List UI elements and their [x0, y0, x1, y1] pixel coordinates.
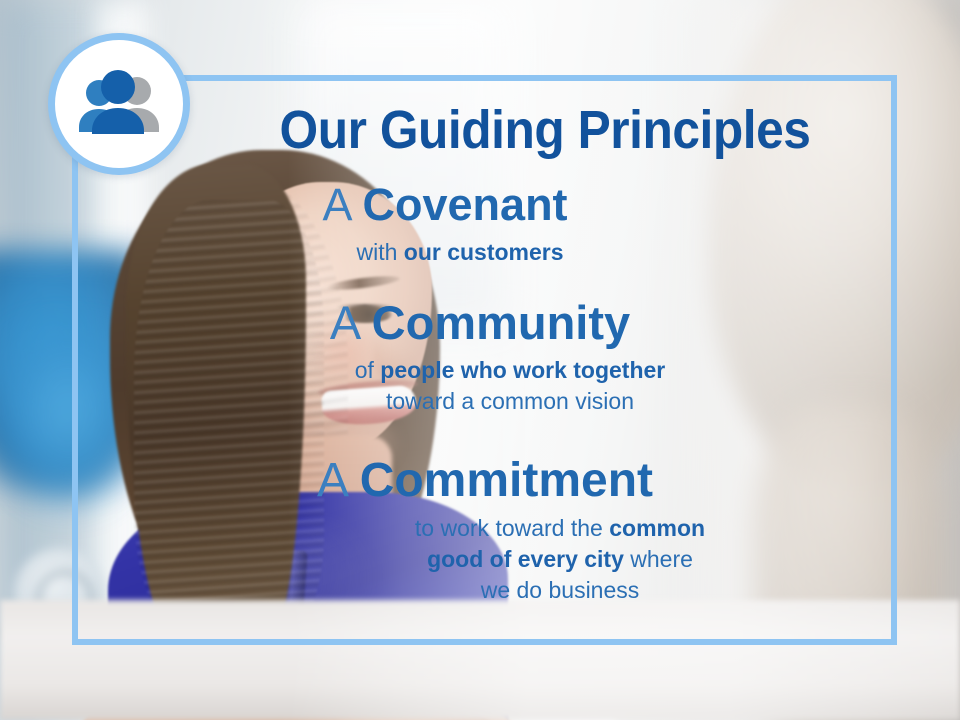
- principle-community-heading: A Community: [100, 295, 860, 351]
- principle-community-word: Community: [372, 296, 631, 349]
- community-sub-bold-1: people who work together: [380, 357, 665, 383]
- text-content: Our Guiding Principles A Covenant with o…: [100, 85, 870, 640]
- principle-covenant: A Covenant with our customers: [100, 177, 790, 268]
- principle-covenant-word: Covenant: [363, 179, 568, 230]
- principle-community-article: A: [330, 296, 359, 349]
- principle-commitment-subtext: to work toward the common good of every …: [100, 513, 870, 606]
- page-title: Our Guiding Principles: [246, 100, 844, 160]
- principle-covenant-heading: A Covenant: [100, 177, 790, 233]
- covenant-sub-regular: with: [356, 239, 403, 265]
- principle-commitment-article: A: [317, 454, 346, 507]
- guiding-principles-poster: FLOW AUTOMOTIVE FLOW: [0, 0, 960, 720]
- principle-covenant-article: A: [322, 179, 350, 230]
- principle-commitment-heading: A Commitment: [100, 453, 870, 509]
- community-sub-regular-2: toward a common vision: [386, 388, 634, 414]
- principle-commitment: A Commitment to work toward the common g…: [100, 453, 870, 606]
- principle-commitment-word: Commitment: [360, 454, 653, 507]
- principle-community-subtext: of people who work together toward a com…: [100, 355, 860, 417]
- covenant-sub-bold: our customers: [404, 239, 564, 265]
- commitment-sub-bold-1: common: [609, 515, 705, 541]
- principle-covenant-subtext: with our customers: [100, 237, 790, 268]
- commitment-sub-regular-1: to work toward the: [415, 515, 609, 541]
- commitment-sub-bold-2: good of every city: [427, 546, 624, 572]
- commitment-sub-regular-2: where: [624, 546, 693, 572]
- community-sub-regular-1: of: [355, 357, 381, 383]
- commitment-sub-regular-3: we do business: [481, 577, 640, 603]
- principle-community: A Community of people who work together …: [100, 295, 860, 417]
